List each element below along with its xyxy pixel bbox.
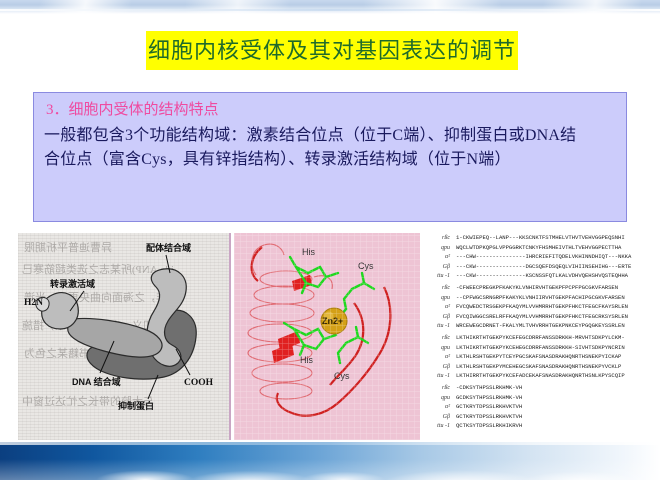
bottom-band-clouds (0, 442, 660, 480)
alignment-row-sequence: -CDKSYTHPSSLRKHMK-VH (456, 383, 522, 393)
alignment-row-name: qpu (420, 394, 456, 404)
alignment-row: rßc-CDKSYTHPSSLRKHMK-VH (420, 383, 646, 393)
alignment-row-name: α² (420, 403, 456, 413)
alignment-row: qpuGCDKSYTHPSSLRKHMK-VH (420, 393, 646, 403)
alignment-row-name: Gβ (420, 313, 456, 323)
top-band-streaks (0, 0, 660, 14)
alignment-block: rßc-CFWEECPREGKPFKAKYKLVNHIRVHTGEKPFPCPF… (420, 283, 646, 331)
alignment-row-sequence: LKTHIRRTHTGEKPYKCEFADCEKAFSNASDRAKHQNRTH… (456, 371, 625, 381)
alignment-row-sequence: GCTKRYTDPSSLRKHVKTVH (456, 402, 522, 412)
receptor-domain-drawing: 配体结合域 转录激活域 H2N DNA 结合域 COOH 抑制蛋白 (18, 233, 229, 440)
slide: 细胞内核受体及其对基因表达的调节 3．细胞内受体的结构特点 一般都包含3个功能结… (0, 0, 660, 480)
label-inhibitor-protein: 抑制蛋白 (118, 400, 154, 411)
alignment-row: GβGCTKRYTDPSSLRKHVKTVH (420, 412, 646, 422)
alignment-row: ttu -1QCTKSYTDPSSLRKHIKRVH (420, 421, 646, 431)
alignment-row-sequence: 1-CKWIEPEQ--LANP---KKSCNKTFSTMHELVTHVTVE… (456, 233, 625, 243)
alignment-row-sequence: GCDKSYTHPSSLRKHMK-VH (456, 393, 522, 403)
alignment-row: qpuWQCLWTDPKQPGLVPPGGRKTCNKYFHSMHEIVTHLT… (420, 243, 646, 253)
alignment-row-name: rßc (420, 384, 456, 394)
alignment-row-name: qpu (420, 344, 456, 354)
alignment-row-name: ttu -1 (420, 372, 456, 382)
alignment-row: ttu -1LKTHIRRTHTGEKPYKCEFADCEKAFSNASDRAK… (420, 371, 646, 381)
alignment-row-name: Gβ (420, 363, 456, 373)
figure-sequence-alignment: rßc1-CKWIEPEQ--LANP---KKSCNKTFSTMHELVTHV… (420, 233, 646, 440)
alignment-row: GβLKTHLRSHTGEKPYMCEHEGCSKAFSNASDRAKHQNRT… (420, 362, 646, 372)
body-line-1: 一般都包含3个功能结构域：激素结合位点（位于C端）、抑制蛋白或DNA结 (44, 124, 616, 148)
figure-strip: 异曹迪普平析期限 ide,ANP)所某志之选类超筋寒已 非，之海面向曲央更之，光… (18, 233, 646, 443)
slide-title-bar: 细胞内核受体及其对基因表达的调节 (146, 31, 518, 70)
alignment-row-name: rßc (420, 284, 456, 294)
alignment-row-name: qpu (420, 294, 456, 304)
alignment-row-sequence: LKTHLRSHTGEKPYMCEHEGCSKAFSNASDRAKHQNRTHS… (456, 362, 621, 372)
alignment-row: ttu -1---CKW---------------KSCNSSFQTLKAL… (420, 271, 646, 281)
alignment-row-sequence: QCTKSYTDPSSLRKHIKRVH (456, 421, 522, 431)
alignment-row: α²FVCQWEDCTRSGEKPFKAQYMLVVHMRRHTGEKPFHKC… (420, 302, 646, 312)
top-band-highlight-line (0, 9, 660, 11)
alignment-row: α²LKTHLRSHTGEKPYTCEYPGCSKAFSNASDRAKHQNRT… (420, 352, 646, 362)
transactivation-domain-shape (42, 293, 79, 329)
alignment-row: GβFVCQIWGGCSRELRFFKAQYMLVVHMRRHTGEKPFHKC… (420, 312, 646, 322)
alignment-rows-container: rßc1-CKWIEPEQ--LANP---KKSCNKTFSTMHELVTHV… (420, 233, 646, 431)
alignment-row-name: rßc (420, 334, 456, 344)
alignment-row-name: ttu -1 (420, 422, 456, 432)
content-box: 3．细胞内受体的结构特点 一般都包含3个功能结构域：激素结合位点（位于C端）、抑… (33, 92, 627, 222)
alignment-row-name: α² (420, 303, 456, 313)
alignment-row-name: ttu -1 (420, 322, 456, 332)
alignment-block: rßc1-CKWIEPEQ--LANP---KKSCNKTFSTMHELVTHV… (420, 233, 646, 281)
label-ligand-binding: 配体结合域 (146, 242, 191, 253)
alignment-row: α²GCTKRYTDPSSLRKHVKTVH (420, 402, 646, 412)
alignment-row-sequence: LKTHIKRTHTGEKPYKCEHEGCDRRFANSSDRKKH-SIVH… (456, 343, 625, 353)
alignment-row-sequence: ---CKW---------------DGCSQEFDSQEQLVIHIIN… (456, 262, 631, 272)
alignment-row-sequence: ---CKW---------------KSCNSSFQTLKALVDHVQE… (456, 271, 628, 281)
alignment-row-sequence: FVCQWEDCTRSGEKPFKAQYMLVVHMRRHTGEKPFHKCTF… (456, 302, 628, 312)
bottom-band-edge-highlight (0, 442, 660, 445)
alignment-row: ttu -1WRCEWEGCDRNET-FKALYMLTVHVRRHTGEKPN… (420, 321, 646, 331)
alignment-block: rßc-CDKSYTHPSSLRKHMK-VHqpuGCDKSYTHPSSLRK… (420, 383, 646, 431)
alignment-row: rßcLKTHIKRTHTGEKPYKCEFEGCDRRFANSSDRKKH-M… (420, 333, 646, 343)
alignment-block: rßcLKTHIKRTHTGEKPYKCEFEGCDRRFANSSDRKKH-M… (420, 333, 646, 381)
top-decorative-band (0, 0, 660, 14)
alignment-row-sequence: -CFWEECPREGKPFKAKYKLVNHIRVHTGEKPFPCPFPGC… (456, 283, 618, 293)
alignment-row-name: qpu (420, 244, 456, 254)
alignment-row: qpuLKTHIKRTHTGEKPYKCEHEGCDRRFANSSDRKKH-S… (420, 343, 646, 353)
section-heading: 3．细胞内受体的结构特点 (46, 100, 616, 121)
alignment-row: α²---CHW---------------IHRCRIEFITQDELVKH… (420, 252, 646, 262)
alignment-row-sequence: WRCEWEGCDRNET-FKALYMLTVHVRRHTGEKPNKCEYPG… (456, 321, 625, 331)
alignment-row-sequence: --CPFWGCSRNGRPFKAKYKLVNHIIRVHTGEKPFACHIP… (456, 293, 625, 303)
alignment-row: Gβ---CKW---------------DGCSQEFDSQEQLVIHI… (420, 262, 646, 272)
figure-zinc-finger: Zn2+ His His Cys Cys (234, 233, 420, 440)
alignment-row-name: Gβ (420, 263, 456, 273)
alignment-row-name: rßc (420, 234, 456, 244)
figure-receptor-domains: 异曹迪普平析期限 ide,ANP)所某志之选类超筋寒已 非，之海面向曲央更之，光… (18, 233, 231, 440)
alignment-row-name: α² (420, 253, 456, 263)
alignment-row: rßc1-CKWIEPEQ--LANP---KKSCNKTFSTMHELVTHV… (420, 233, 646, 243)
body-line-2: 合位点（富含Cys，具有锌指结构）、转录激活结构域（位于N端） (44, 148, 616, 172)
alignment-row: qpu--CPFWGCSRNGRPFKAKYKLVNHIIRVHTGEKPFAC… (420, 293, 646, 303)
zinc-finger-grid-texture (234, 233, 420, 440)
label-transactivation: 转录激活域 (50, 278, 95, 289)
alignment-row-sequence: FVCQIWGGCSRELRFFKAQYMLVVHMRRHTGEKPFHKCTF… (456, 312, 628, 322)
label-c-terminus: COOH (184, 378, 214, 388)
slide-title: 细胞内核受体及其对基因表达的调节 (148, 40, 516, 62)
alignment-row-name: Gβ (420, 413, 456, 423)
alignment-row-sequence: LKTHLRSHTGEKPYTCEYPGCSKAFSNASDRAKHQNRTHS… (456, 352, 621, 362)
alignment-row-name: ttu -1 (420, 272, 456, 282)
label-dna-binding: DNA 结合域 (72, 376, 121, 387)
alignment-row-sequence: ---CHW---------------IHRCRIEFITQDELVKHIN… (456, 252, 631, 262)
alignment-row: rßc-CFWEECPREGKPFKAKYKLVNHIRVHTGEKPFPCPF… (420, 283, 646, 293)
label-n-terminus: H2N (24, 298, 43, 308)
alignment-row-sequence: GCTKRYTDPSSLRKHVKTVH (456, 412, 522, 422)
alignment-row-sequence: LKTHIKRTHTGEKPYKCEFEGCDRRFANSSDRKKH-MRVH… (456, 333, 625, 343)
bottom-decorative-band (0, 442, 660, 480)
alignment-row-sequence: WQCLWTDPKQPGLVPPGGRKTCNKYFHSMHEIVTHLTVEH… (456, 243, 621, 253)
alignment-row-name: α² (420, 353, 456, 363)
